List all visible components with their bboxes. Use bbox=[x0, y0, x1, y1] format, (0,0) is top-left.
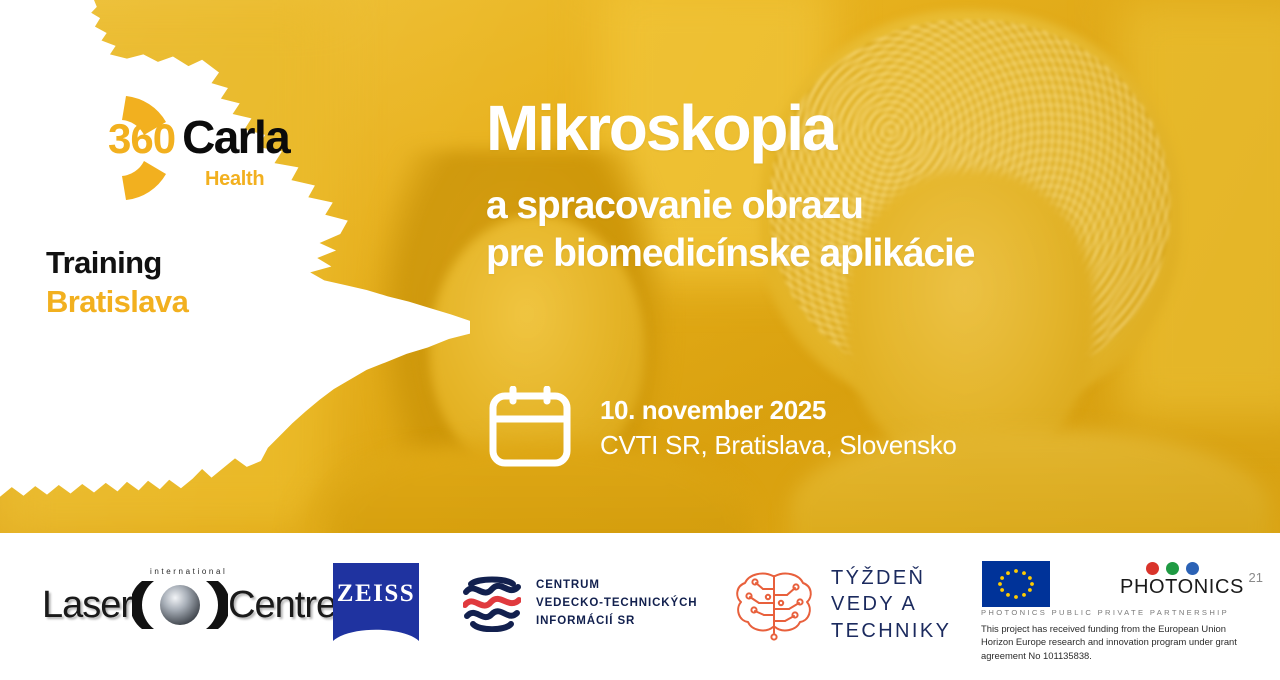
zeiss-wordmark: ZEISS bbox=[337, 580, 415, 607]
brand-logo: 360 Carla Health bbox=[40, 88, 290, 208]
ilc-laser-text: Laser bbox=[42, 586, 132, 624]
sphere-in-brackets-icon bbox=[132, 579, 228, 631]
logo-health-text: Health bbox=[205, 168, 264, 191]
ilc-international-label: international bbox=[150, 567, 227, 576]
photonics-partnership-line: PHOTONICS PUBLIC PRIVATE PARTNERSHIP bbox=[981, 608, 1229, 617]
brain-circuit-icon bbox=[733, 569, 815, 641]
event-banner: 360 Carla Health Training Bratislava Mik… bbox=[0, 0, 1280, 680]
partner-logo-zeiss: ZEISS bbox=[333, 563, 419, 641]
event-type-label: Training bbox=[46, 245, 162, 281]
cvti-line-2: VEDECKO-TECHNICKÝCH bbox=[536, 595, 698, 613]
wave-circle-icon bbox=[463, 576, 521, 632]
partner-logo-tyzden-vedy-a-techniky: TÝŽDEŇ VEDY A TECHNIKY bbox=[733, 565, 951, 644]
logo-wordmark: 360 Carla bbox=[108, 114, 289, 160]
photonics-dot-blue bbox=[1186, 562, 1199, 575]
tvt-line-1: TÝŽDEŇ bbox=[831, 565, 951, 591]
partner-logo-international-laser-centre: international Laser Centr bbox=[42, 567, 322, 639]
photonics-word-text: PHOTONICS bbox=[1120, 576, 1244, 598]
photonics-wordmark: PHOTONICS 21 bbox=[1120, 577, 1244, 597]
tvt-line-3: TECHNIKY bbox=[831, 618, 951, 644]
eu-flag-icon bbox=[982, 561, 1050, 607]
page-title: Mikroskopia bbox=[486, 96, 835, 161]
event-details: 10. november 2025 CVTI SR, Bratislava, S… bbox=[486, 386, 957, 470]
cvti-line-1: CENTRUM bbox=[536, 577, 698, 595]
partner-logo-photonics21: PHOTONICS 21 bbox=[1120, 562, 1250, 604]
event-date: 10. november 2025 bbox=[600, 395, 957, 426]
partner-logo-cvti-sr: CENTRUM VEDECKO-TECHNICKÝCH INFORMÁCIÍ S… bbox=[463, 576, 698, 632]
photonics-superscript: 21 bbox=[1248, 571, 1262, 584]
tvt-line-2: VEDY A bbox=[831, 591, 951, 617]
logo-360-text: 360 bbox=[108, 118, 175, 160]
photonics-dot-green bbox=[1166, 562, 1179, 575]
ilc-centre-text: Centre bbox=[228, 586, 336, 624]
funding-disclaimer: This project has received funding from t… bbox=[981, 622, 1257, 662]
event-city-label: Bratislava bbox=[46, 284, 188, 320]
hero-section: 360 Carla Health Training Bratislava Mik… bbox=[0, 0, 1280, 533]
calendar-icon bbox=[486, 386, 574, 470]
cvti-wordmark: CENTRUM VEDECKO-TECHNICKÝCH INFORMÁCIÍ S… bbox=[536, 577, 698, 630]
page-subtitle: a spracovanie obrazu pre biomedicínske a… bbox=[486, 182, 974, 278]
logo-carla-text: Carla bbox=[182, 114, 289, 160]
photonics-dots bbox=[1146, 562, 1250, 575]
photonics-dot-red bbox=[1146, 562, 1159, 575]
cvti-line-3: INFORMÁCIÍ SR bbox=[536, 613, 698, 631]
tvt-wordmark: TÝŽDEŇ VEDY A TECHNIKY bbox=[831, 565, 951, 644]
page-subtitle-line2: pre biomedicínske aplikácie bbox=[486, 230, 974, 278]
event-location: CVTI SR, Bratislava, Slovensko bbox=[600, 430, 957, 461]
event-details-text: 10. november 2025 CVTI SR, Bratislava, S… bbox=[600, 395, 957, 461]
ilc-wordmark-row: Laser Centre bbox=[42, 579, 336, 631]
page-subtitle-line1: a spracovanie obrazu bbox=[486, 182, 974, 230]
